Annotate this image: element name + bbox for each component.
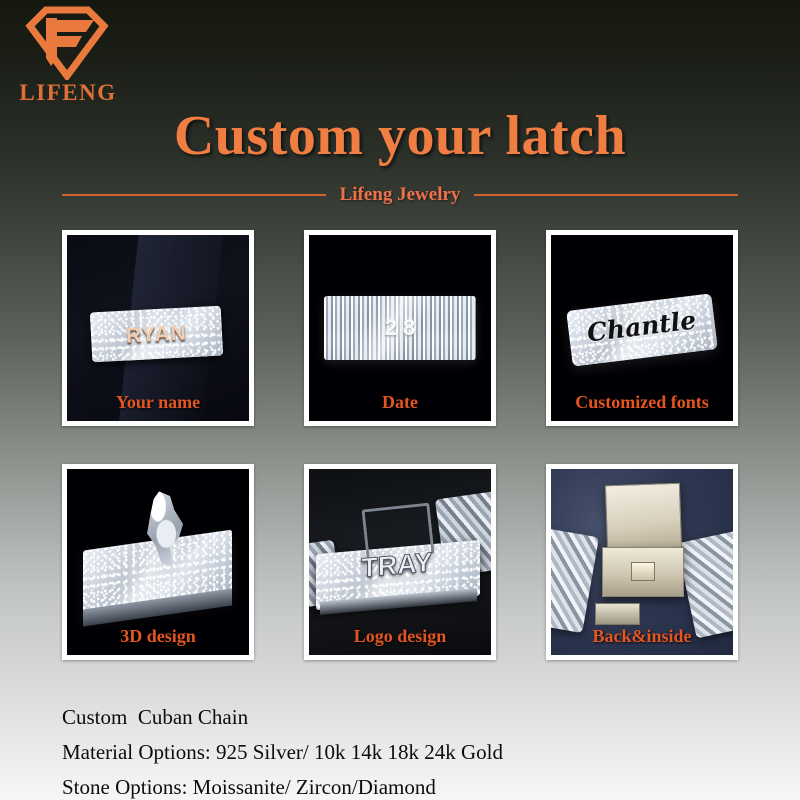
3d-figure-latch-photo: 3D design [67,469,249,655]
brand-logo: LIFENG [12,6,132,110]
cuban-link-right [676,531,733,638]
engraved-name: RYAN [99,312,214,357]
spec-list: Custom Cuban Chain Material Options: 925… [62,700,762,800]
card-caption: Date [309,392,491,413]
card-caption: Back&inside [551,626,733,647]
feature-card[interactable]: 2 8 Date [304,230,496,426]
feature-card[interactable]: Chantle Customized fonts [546,230,738,426]
divider-left [62,194,326,196]
baguette-date-latch-photo: 2 8 Date [309,235,491,421]
spec-line-material: Material Options: 925 Silver/ 10k 14k 18… [62,735,762,770]
subheading-row: Lifeng Jewelry [62,180,738,210]
latch-lid [604,483,681,551]
latch-mechanism-photo: Back&inside [551,469,733,655]
cuban-link-left [551,528,599,633]
latch-clip [595,603,641,625]
divider-right [474,194,738,196]
logo-latch-photo: TRAY Logo design [309,469,491,655]
spec-line-product: Custom Cuban Chain [62,700,762,735]
card-caption: 3D design [67,626,249,647]
feature-card[interactable]: TRAY Logo design [304,464,496,660]
spec-line-stone: Stone Options: Moissanite/ Zircon/Diamon… [62,770,762,800]
card-caption: Customized fonts [551,392,733,413]
diamond-f-logo-icon [24,6,110,80]
feature-card[interactable]: RYAN Your name [62,230,254,426]
product-poster: LIFENG Custom your latch Lifeng Jewelry … [0,0,800,800]
brand-subheading: Lifeng Jewelry [340,184,461,206]
card-caption: Logo design [309,626,491,647]
feature-card-grid: RYAN Your name 2 8 Date Chantle [62,230,738,660]
brand-wordmark: LIFENG [12,80,124,106]
latch-tongue [631,562,655,581]
feature-card[interactable]: Back&inside [546,464,738,660]
feature-card[interactable]: 3D design [62,464,254,660]
script-font-latch-photo: Chantle Customized fonts [551,235,733,421]
nameplate-latch-photo: RYAN Your name [67,235,249,421]
engraved-date: 2 8 [334,306,465,351]
card-caption: Your name [67,392,249,413]
page-title: Custom your latch [0,104,800,168]
